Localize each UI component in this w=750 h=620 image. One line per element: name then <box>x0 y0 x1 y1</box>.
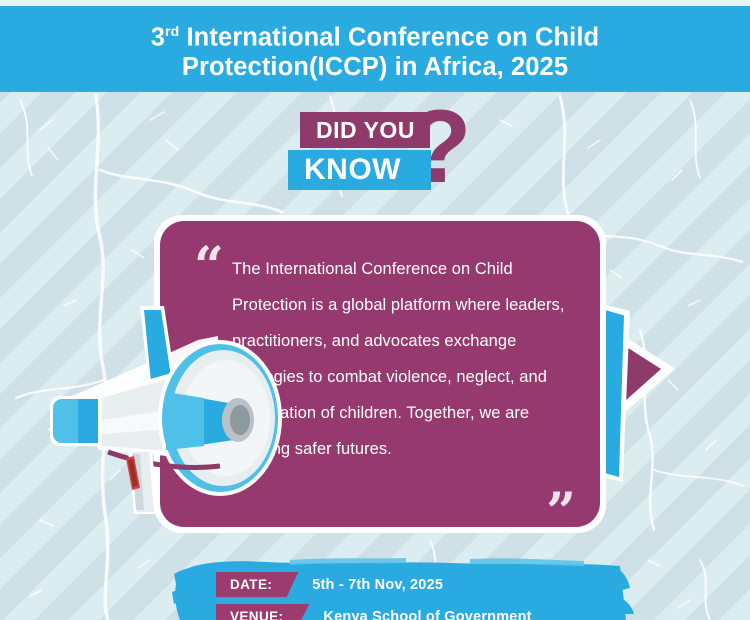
page-title: 3rd International Conference on Child Pr… <box>93 16 657 83</box>
date-label: DATE: <box>230 577 272 592</box>
title-prefix: 3 <box>151 23 165 51</box>
header-banner: 3rd International Conference on Child Pr… <box>0 6 750 92</box>
banner-row-venue: VENUE: Kenya School of Government <box>216 604 532 620</box>
date-value: 5th - 7th Nov, 2025 <box>312 577 443 593</box>
badge-label-know: KNOW <box>304 153 401 187</box>
quote-open-icon: “ <box>194 247 224 287</box>
title-line-2: Protection(ICCP) in Africa, 2025 <box>182 53 568 81</box>
venue-label: VENUE: <box>230 609 283 620</box>
date-label-pill: DATE: <box>216 572 298 597</box>
title-line-1: International Conference on Child <box>179 23 599 51</box>
badge-label-did-you: DID YOU <box>316 117 415 144</box>
details-banner: DATE: 5th - 7th Nov, 2025 VENUE: Kenya S… <box>170 556 640 620</box>
venue-value: Kenya School of Government <box>323 609 531 620</box>
title-ordinal-suffix: rd <box>165 23 179 39</box>
megaphone-icon <box>48 300 298 530</box>
badge-row-know: KNOW <box>288 150 431 190</box>
banner-row-date: DATE: 5th - 7th Nov, 2025 <box>216 572 443 597</box>
venue-label-pill: VENUE: <box>216 604 309 620</box>
poster-canvas: 3rd International Conference on Child Pr… <box>0 0 750 620</box>
did-you-know-badge: DID YOU ? KNOW <box>300 108 490 198</box>
quote-close-icon: ” <box>546 493 576 533</box>
